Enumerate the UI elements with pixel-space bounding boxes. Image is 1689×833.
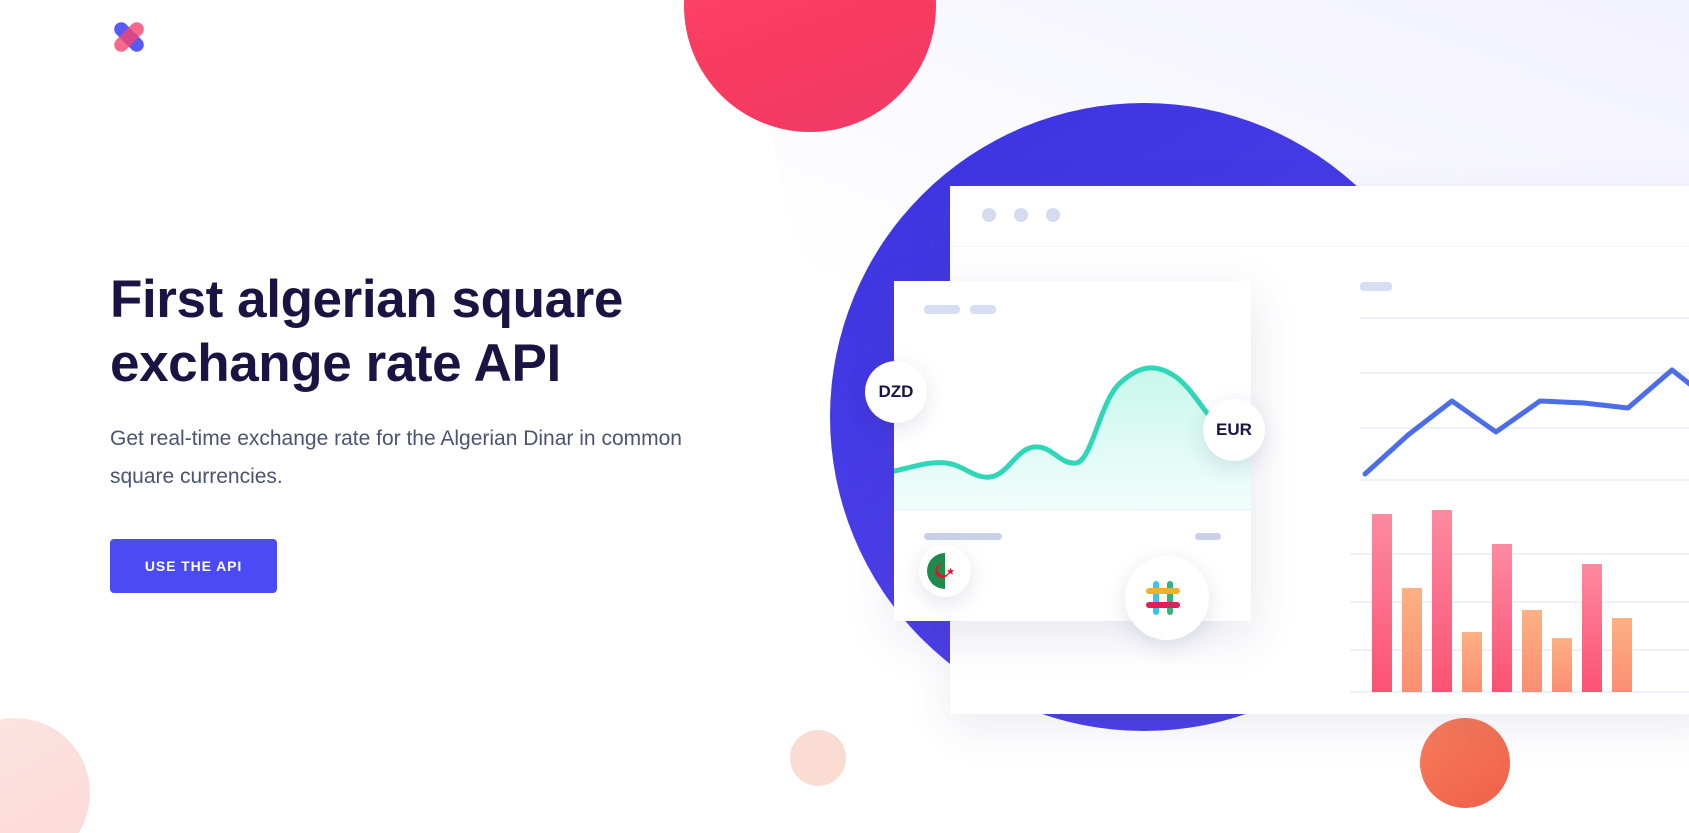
footer-label-placeholder — [924, 533, 1002, 540]
window-traffic-lights-icon — [982, 208, 1060, 222]
card-divider — [894, 509, 1251, 510]
decorative-pink-circle — [0, 718, 90, 833]
x-cross-logo-icon[interactable] — [106, 14, 152, 60]
headline-line-2: exchange rate API — [110, 334, 561, 393]
card-subtitle-placeholder — [970, 305, 996, 314]
footer-value-placeholder — [1195, 533, 1221, 540]
algeria-flag-icon[interactable] — [919, 545, 971, 597]
bar-chart — [1350, 506, 1689, 696]
use-the-api-button[interactable]: USE THE API — [110, 539, 277, 593]
page-subtitle: Get real-time exchange rate for the Alge… — [110, 420, 710, 496]
headline-line-1: First algerian square — [110, 270, 623, 329]
slack-hash-icon[interactable] — [1125, 556, 1209, 640]
subtitle-line-1: Get real-time exchange rate for the Alge… — [110, 427, 596, 450]
card-title-placeholder — [924, 305, 960, 314]
area-chart — [894, 341, 1251, 511]
landing-page: First algerian square exchange rate API … — [0, 0, 1689, 833]
badge-eur[interactable]: EUR — [1203, 399, 1265, 461]
line-chart-panel — [1360, 282, 1689, 492]
line-chart — [1360, 308, 1689, 488]
hero-illustration: DZD EUR — [780, 0, 1689, 833]
card-footer-right — [1195, 533, 1221, 540]
bar-chart-panel — [1350, 506, 1689, 696]
line-chart-title-placeholder — [1360, 282, 1392, 291]
badge-dzd[interactable]: DZD — [865, 361, 927, 423]
card-footer-left — [924, 533, 1002, 540]
page-title: First algerian square exchange rate API — [110, 268, 750, 396]
card-header-placeholders — [924, 305, 996, 314]
window-divider — [950, 246, 1689, 247]
